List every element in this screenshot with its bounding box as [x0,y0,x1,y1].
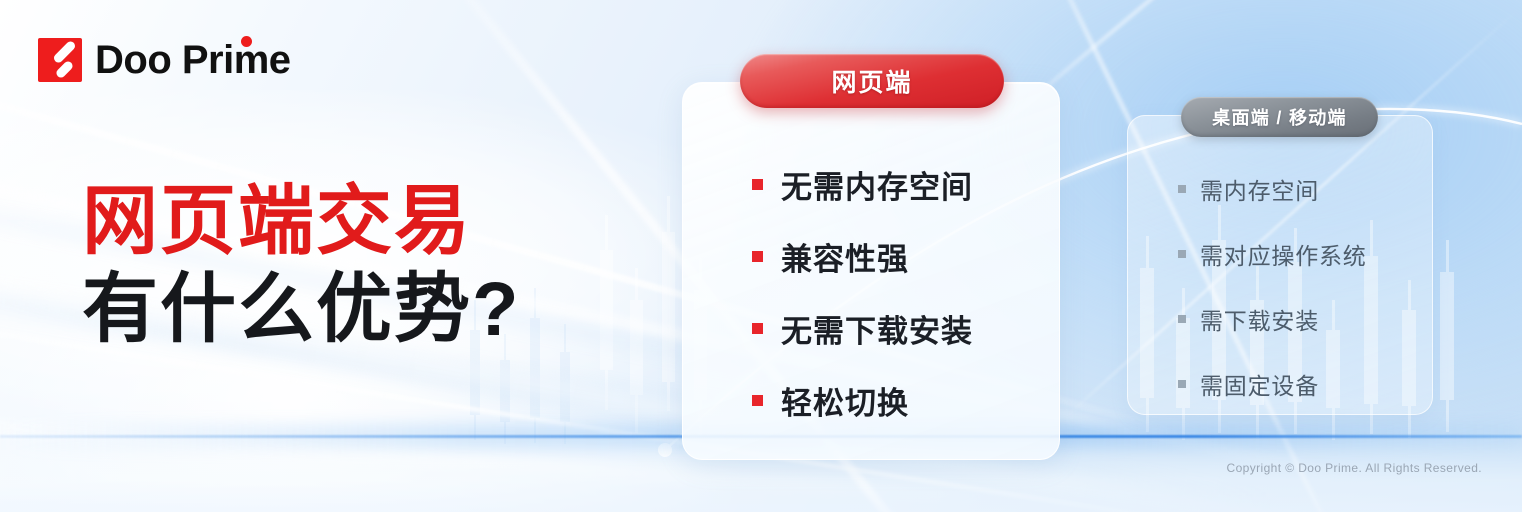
brand-logo[interactable]: Doo Prime [38,38,291,82]
desktop-mobile-feature-list: 需内存空间 需对应操作系统 需下载安装 需固定设备 [1178,156,1458,416]
headline-line-1: 网页端交易 [82,178,520,266]
web-platform-feature-list: 无需内存空间 兼容性强 无需下载安装 轻松切换 [752,148,1052,436]
bullet-square-icon [1178,315,1186,323]
bullet-square-icon [752,251,763,262]
list-item-label: 需固定设备 [1200,367,1319,401]
doo-prime-logo-mark-icon [38,38,82,82]
list-item-label: 兼容性强 [781,234,909,279]
copyright-notice: Copyright © Doo Prime. All Rights Reserv… [1227,461,1482,475]
list-item: 需内存空间 [1178,156,1458,221]
list-item-label: 需对应操作系统 [1200,237,1367,271]
bullet-square-icon [1178,250,1186,258]
list-item: 需下载安装 [1178,286,1458,351]
desktop-mobile-badge: 桌面端 / 移动端 [1181,97,1378,137]
list-item-label: 需内存空间 [1200,172,1319,206]
desktop-mobile-badge-label: 桌面端 / 移动端 [1212,104,1347,130]
bullet-square-icon [1178,185,1186,193]
bullet-square-icon [752,395,763,406]
list-item-label: 无需内存空间 [781,162,973,207]
brand-name: Doo Prime [95,40,291,80]
web-platform-badge: 网页端 [740,54,1004,108]
list-item: 轻松切换 [752,364,1052,436]
list-item-label: 无需下载安装 [781,306,973,351]
bullet-square-icon [752,323,763,334]
list-item: 兼容性强 [752,220,1052,292]
headline-line-2: 有什么优势? [82,266,520,354]
logo-accent-dot-icon [241,36,252,47]
banner-canvas: Doo Prime 网页端交易 有什么优势? 网页端 无需内存空间 兼容性强 无… [0,0,1522,512]
web-platform-badge-label: 网页端 [831,63,912,99]
list-item: 无需内存空间 [752,148,1052,220]
list-item: 需对应操作系统 [1178,221,1458,286]
bullet-square-icon [752,179,763,190]
list-item: 需固定设备 [1178,351,1458,416]
list-item: 无需下载安装 [752,292,1052,364]
list-item-label: 轻松切换 [781,378,909,423]
page-title: 网页端交易 有什么优势? [82,178,520,354]
list-item-label: 需下载安装 [1200,302,1319,336]
bullet-square-icon [1178,380,1186,388]
